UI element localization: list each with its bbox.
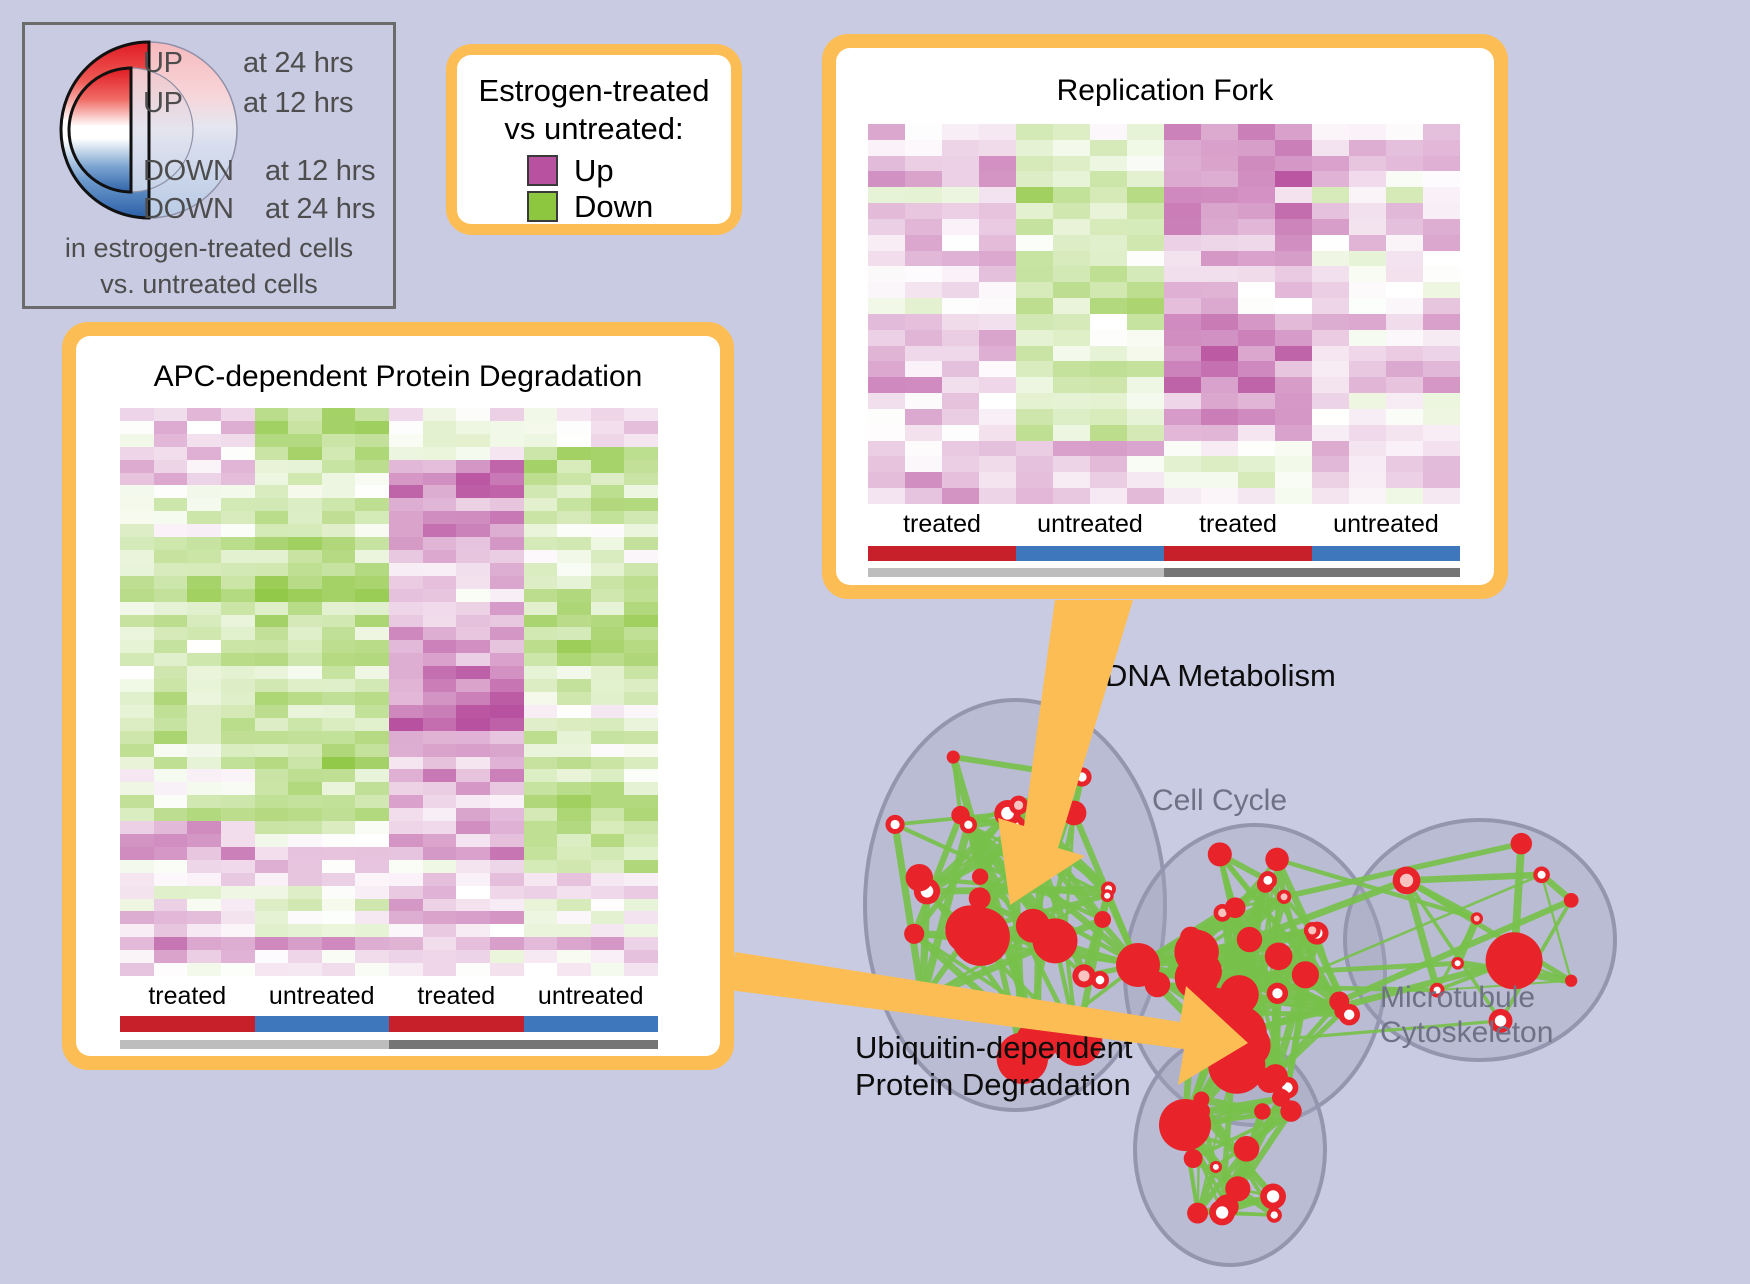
pathway-network-diagram: DNA Metabolism Cell Cycle Microtubule Cy… bbox=[800, 620, 1750, 1279]
key-time-up-12: at 12 hrs bbox=[243, 87, 353, 120]
replication-fork-panel: Replication Fork treated untreated treat… bbox=[822, 34, 1508, 599]
key-footer-line2: vs. untreated cells bbox=[25, 269, 393, 300]
apc-treatment-bar bbox=[120, 1016, 658, 1032]
cluster-label-ubiquitin-line1: Ubiquitin-dependent bbox=[855, 1030, 1133, 1067]
group-label-1: untreated bbox=[1016, 510, 1164, 539]
key-label-up-24: UP bbox=[143, 47, 183, 80]
time-label-24: 24 hrs bbox=[1164, 584, 1460, 585]
key-time-down-24: at 24 hrs bbox=[265, 193, 375, 226]
replication-fork-time-bar bbox=[868, 568, 1460, 577]
group-label-2: treated bbox=[1164, 510, 1312, 539]
group-label-0: treated bbox=[120, 982, 255, 1011]
network-graph bbox=[800, 620, 1750, 1279]
legend-label-up: Up bbox=[574, 155, 614, 186]
cluster-label-microtubule-cytoskeleton: Microtubule Cytoskeleton bbox=[1380, 980, 1553, 1051]
apc-degradation-heatmap bbox=[120, 408, 658, 976]
replication-fork-title: Replication Fork bbox=[836, 74, 1494, 108]
down-color-swatch bbox=[527, 191, 558, 222]
legend-title-line2: vs untreated: bbox=[457, 111, 731, 147]
legend-item-up: Up bbox=[527, 155, 614, 186]
group-label-0: treated bbox=[868, 510, 1016, 539]
cluster-label-ubiquitin-line2: Protein Degradation bbox=[855, 1067, 1133, 1104]
replication-fork-time-labels: 12 hrs 24 hrs bbox=[868, 584, 1460, 585]
apc-degradation-body: APC-dependent Protein Degradation treate… bbox=[76, 336, 720, 1056]
key-time-up-24: at 24 hrs bbox=[243, 47, 353, 80]
replication-fork-heatmap bbox=[868, 124, 1460, 504]
legend-item-down: Down bbox=[527, 191, 653, 222]
apc-time-bar bbox=[120, 1040, 658, 1049]
time-label-12: 12 hrs bbox=[868, 584, 1164, 585]
group-label-1: untreated bbox=[255, 982, 390, 1011]
estrogen-legend-body: Estrogen-treated vs untreated: Up Down bbox=[457, 55, 731, 224]
key-label-up-12: UP bbox=[143, 87, 183, 120]
up-color-swatch bbox=[527, 155, 558, 186]
estrogen-legend-panel: Estrogen-treated vs untreated: Up Down bbox=[446, 44, 742, 235]
cluster-label-ubiquitin-degradation: Ubiquitin-dependent Protein Degradation bbox=[855, 1030, 1133, 1103]
key-label-down-12: DOWN bbox=[143, 155, 234, 188]
group-label-2: treated bbox=[389, 982, 524, 1011]
cluster-label-microtubule-line2: Cytoskeleton bbox=[1380, 1015, 1553, 1050]
key-footer-line1: in estrogen-treated cells bbox=[25, 233, 393, 264]
expression-key-box: UP at 24 hrs UP at 12 hrs DOWN at 12 hrs… bbox=[22, 22, 396, 309]
legend-title-line1: Estrogen-treated bbox=[457, 73, 731, 109]
replication-fork-body: Replication Fork treated untreated treat… bbox=[836, 48, 1494, 585]
cluster-label-cell-cycle: Cell Cycle bbox=[1152, 784, 1287, 818]
group-label-3: untreated bbox=[1312, 510, 1460, 539]
replication-fork-group-labels: treated untreated treated untreated bbox=[868, 510, 1460, 539]
group-label-3: untreated bbox=[524, 982, 659, 1011]
key-time-down-12: at 12 hrs bbox=[265, 155, 375, 188]
legend-label-down: Down bbox=[574, 191, 653, 222]
apc-degradation-title: APC-dependent Protein Degradation bbox=[76, 360, 720, 394]
apc-degradation-panel: APC-dependent Protein Degradation treate… bbox=[62, 322, 734, 1070]
cluster-label-dna-metabolism: DNA Metabolism bbox=[1105, 658, 1336, 694]
cluster-label-microtubule-line1: Microtubule bbox=[1380, 980, 1553, 1015]
replication-fork-treatment-bar bbox=[868, 546, 1460, 561]
apc-group-labels: treated untreated treated untreated bbox=[120, 982, 658, 1011]
key-label-down-24: DOWN bbox=[143, 193, 234, 226]
